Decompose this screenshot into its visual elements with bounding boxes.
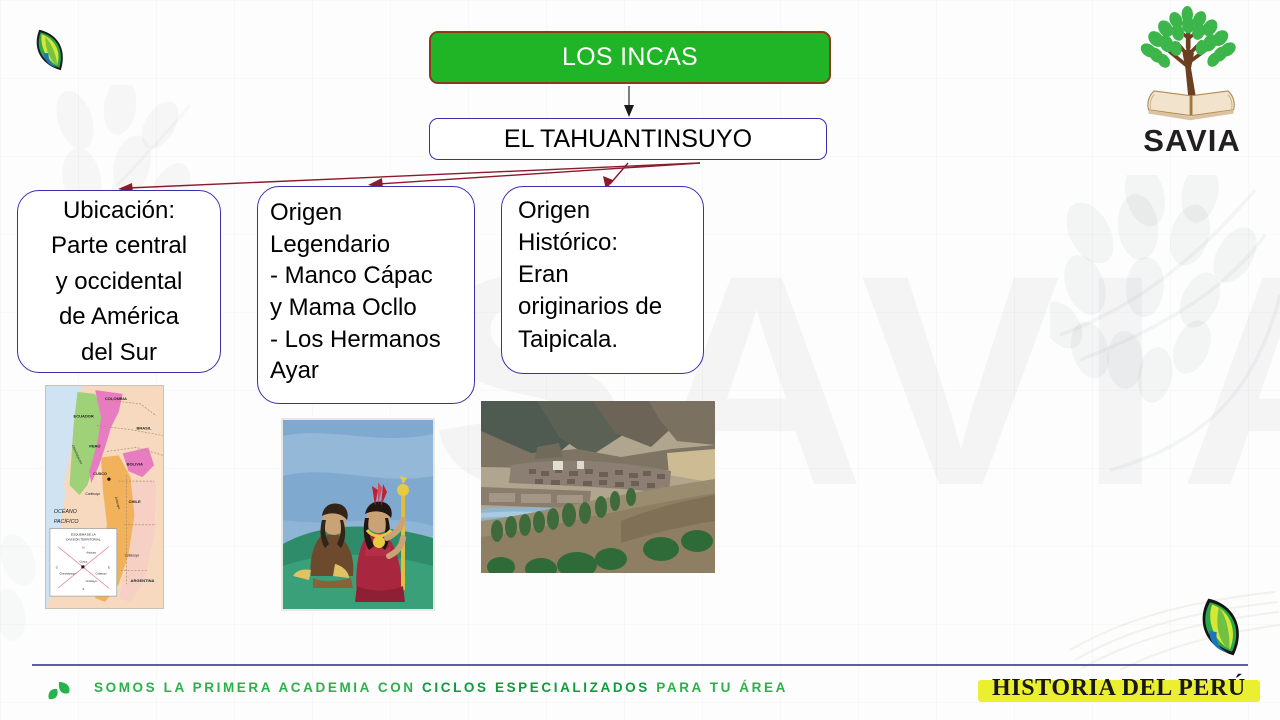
text-line: - Manco Cápac bbox=[270, 260, 474, 292]
text-line: Parte central bbox=[51, 228, 187, 264]
footer-divider bbox=[32, 664, 1248, 666]
text-line: del Sur bbox=[51, 335, 187, 371]
text-line: Ubicación: bbox=[51, 193, 187, 229]
node-origen-legendario[interactable]: Origen Legendario - Manco Cápac y Mama O… bbox=[257, 186, 475, 404]
slide-canvas: SAVIA bbox=[0, 0, 1280, 720]
text-line: Origen bbox=[518, 195, 703, 227]
subtitle-box[interactable]: EL TAHUANTINSUYO bbox=[429, 118, 827, 160]
svg-text:Collasuyo: Collasuyo bbox=[95, 571, 107, 575]
svg-text:PACÍFICO: PACÍFICO bbox=[54, 518, 79, 525]
manco-capac-mama-ocllo-illustration bbox=[279, 416, 437, 613]
svg-text:DIVISIÓN TERRITORIAL: DIVISIÓN TERRITORIAL bbox=[66, 537, 100, 542]
text-line: originarios de bbox=[518, 291, 703, 323]
text-line: de América bbox=[51, 299, 187, 335]
text-line: y Mama Ocllo bbox=[270, 292, 474, 324]
leaf-icon-bottom-right bbox=[1185, 594, 1257, 660]
svg-text:N: N bbox=[82, 546, 84, 550]
svg-text:Collasuyo: Collasuyo bbox=[125, 553, 140, 557]
text-line: - Los Hermanos bbox=[270, 324, 474, 356]
svg-text:ECUADOR: ECUADOR bbox=[74, 414, 94, 419]
course-badge: HISTORIA DEL PERÚ bbox=[978, 672, 1260, 707]
text-line: Legendario bbox=[270, 229, 474, 261]
savia-logo: SAVIA bbox=[1132, 6, 1252, 161]
text-line: Origen bbox=[270, 197, 474, 229]
svg-text:OCÉANO: OCÉANO bbox=[54, 508, 77, 515]
footer-tagline-part2: PARA TU ÁREA bbox=[650, 680, 788, 695]
andean-valley-town-photo bbox=[481, 401, 715, 573]
node-origen-historico[interactable]: Origen Histórico: Eran originarios de Ta… bbox=[501, 186, 704, 374]
svg-text:BRASIL: BRASIL bbox=[136, 426, 151, 431]
title-box[interactable]: LOS INCAS bbox=[429, 31, 831, 84]
svg-text:BOLIVIA: BOLIVIA bbox=[127, 461, 143, 466]
footer-tagline-emphasis: CICLOS ESPECIALIZADOS bbox=[422, 680, 650, 695]
node-ubicacion-text: Ubicación: Parte central y occidental de… bbox=[51, 193, 187, 371]
text-line: Ayar bbox=[270, 355, 474, 387]
savia-tree-book-icon bbox=[1132, 6, 1252, 124]
node-origen-legendario-text: Origen Legendario - Manco Cápac y Mama O… bbox=[270, 197, 474, 387]
svg-text:Cusco: Cusco bbox=[79, 559, 87, 563]
svg-text:CUSCO: CUSCO bbox=[93, 472, 107, 476]
svg-text:S: S bbox=[82, 587, 84, 591]
leaf-icon-top-left bbox=[22, 24, 78, 76]
footer-tagline-part1: SOMOS LA PRIMERA ACADEMIA CON bbox=[94, 680, 422, 695]
node-ubicacion[interactable]: Ubicación: Parte central y occidental de… bbox=[17, 190, 221, 373]
text-line: Taipicala. bbox=[518, 324, 703, 356]
svg-text:Contisuyo: Contisuyo bbox=[85, 492, 100, 496]
title-label: LOS INCAS bbox=[562, 43, 698, 72]
subtitle-label: EL TAHUANTINSUYO bbox=[504, 125, 752, 154]
map-tahuantinsuyo: COLOMBIA ECUADOR BRASIL PERÚ BOLIVIA CHI… bbox=[45, 385, 164, 609]
svg-text:Contisuyo: Contisuyo bbox=[86, 579, 98, 583]
svg-text:Chinchaysuyo: Chinchaysuyo bbox=[60, 571, 77, 575]
svg-text:CHILE: CHILE bbox=[129, 499, 141, 504]
svg-text:Antisuyo: Antisuyo bbox=[86, 550, 96, 554]
course-badge-label: HISTORIA DEL PERÚ bbox=[992, 675, 1246, 702]
svg-text:PERÚ: PERÚ bbox=[89, 443, 100, 448]
svg-text:E: E bbox=[108, 565, 110, 569]
savia-logo-wordmark: SAVIA bbox=[1132, 123, 1252, 159]
footer-leaf-icon bbox=[46, 679, 72, 701]
node-origen-historico-text: Origen Histórico: Eran originarios de Ta… bbox=[518, 195, 703, 356]
text-line: Histórico: bbox=[518, 227, 703, 259]
svg-text:ESQUEMA DE LA: ESQUEMA DE LA bbox=[71, 533, 97, 537]
footer-tagline: SOMOS LA PRIMERA ACADEMIA CON CICLOS ESP… bbox=[94, 680, 788, 695]
svg-text:ARGENTINA: ARGENTINA bbox=[131, 578, 155, 583]
text-line: Eran bbox=[518, 259, 703, 291]
text-line: y occidental bbox=[51, 264, 187, 300]
svg-text:COLOMBIA: COLOMBIA bbox=[105, 396, 127, 401]
